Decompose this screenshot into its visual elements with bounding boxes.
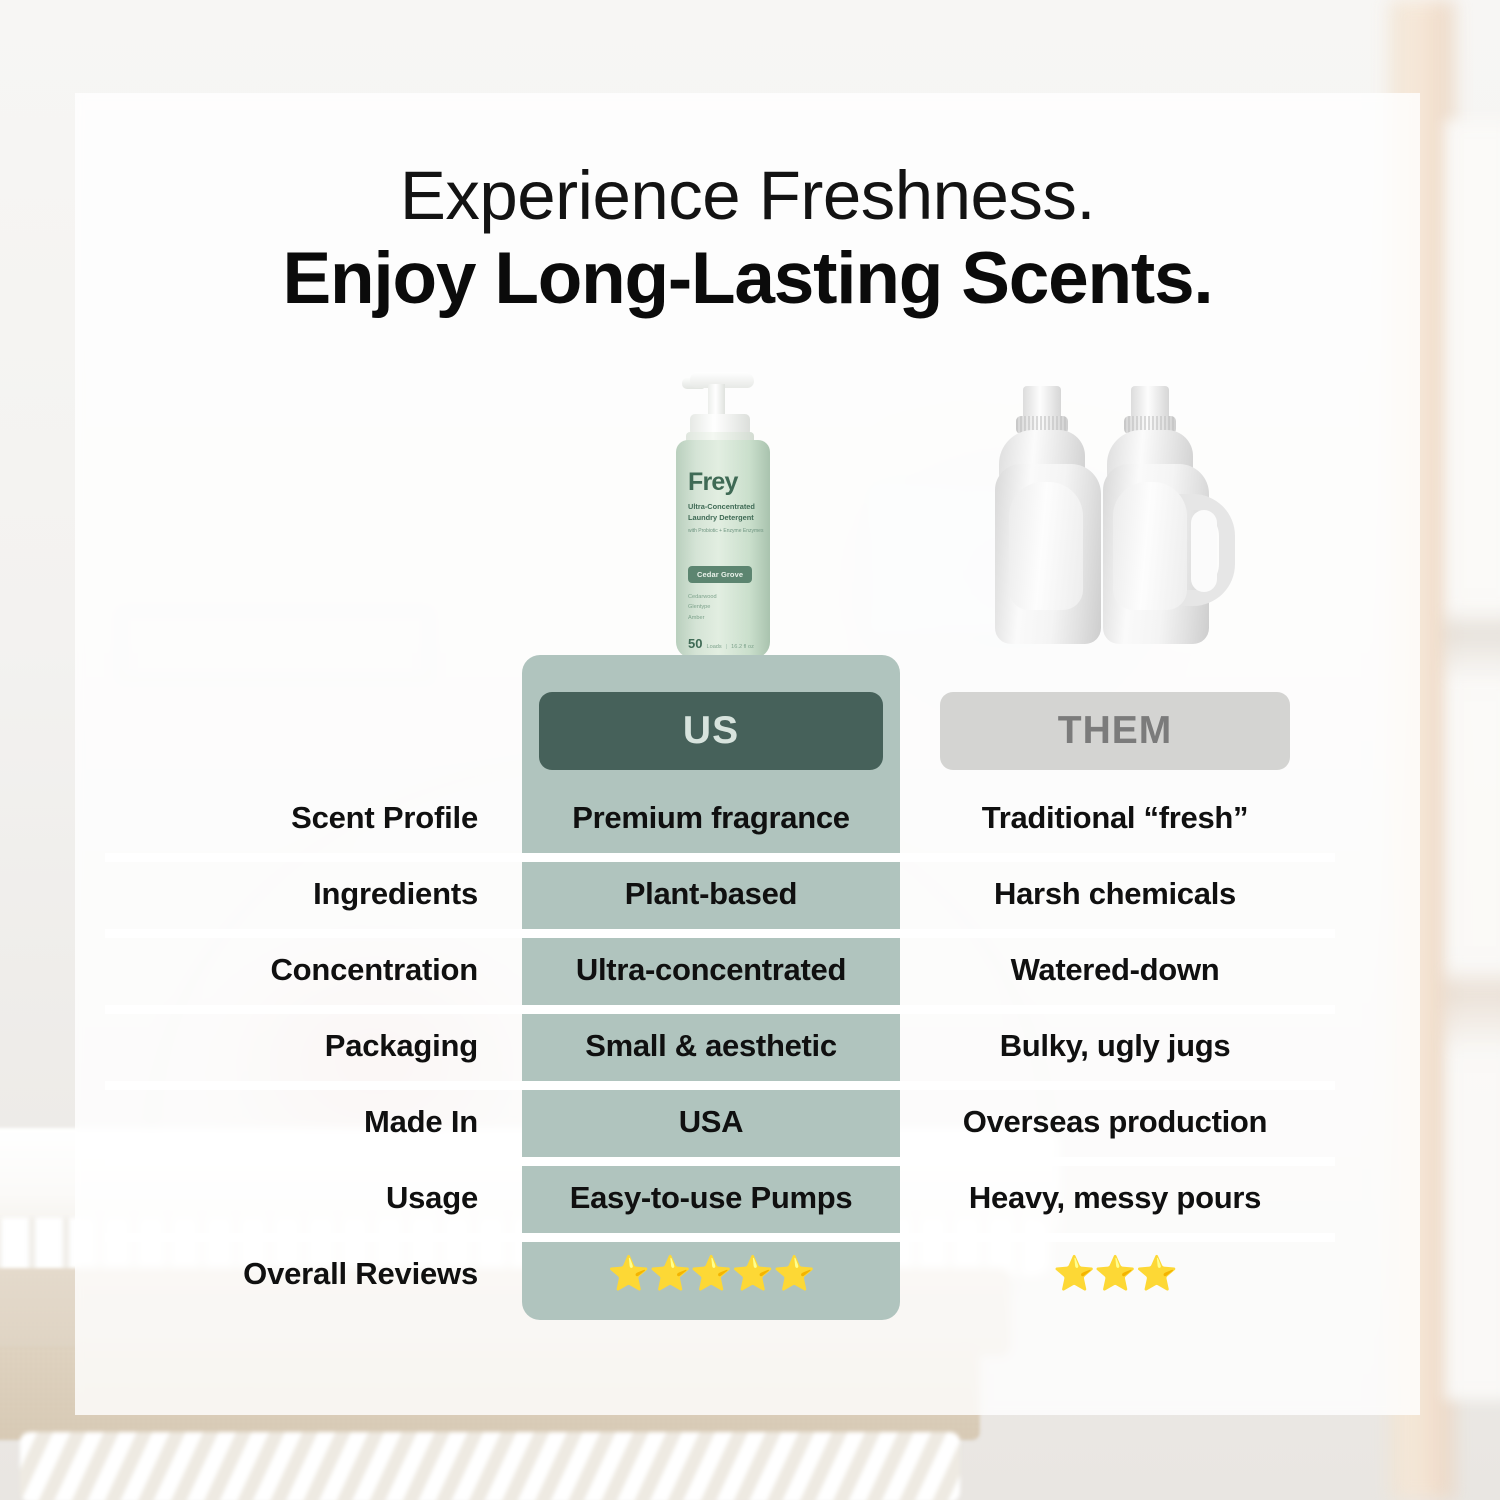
row-them-packaging: Bulky, ugly jugs bbox=[915, 1008, 1315, 1084]
row-label-ingredients: Ingredients bbox=[120, 856, 478, 932]
table-row: Ingredients Plant-based Harsh chemicals bbox=[0, 856, 1500, 932]
row-them-star-rating: ⭐⭐⭐ bbox=[915, 1236, 1315, 1312]
table-row: Made In USA Overseas production bbox=[0, 1084, 1500, 1160]
row-them-ingredients: Harsh chemicals bbox=[915, 856, 1315, 932]
row-label-usage: Usage bbox=[120, 1160, 478, 1236]
comparison-table: US THEM Scent Profile Premium fragrance … bbox=[0, 0, 1500, 1500]
row-us-packaging: Small & aesthetic bbox=[522, 1008, 900, 1084]
table-row: Overall Reviews ⭐⭐⭐⭐⭐ ⭐⭐⭐ bbox=[0, 1236, 1500, 1312]
us-column-header: US bbox=[539, 692, 883, 770]
row-label-scent-profile: Scent Profile bbox=[120, 780, 478, 856]
row-us-star-rating: ⭐⭐⭐⭐⭐ bbox=[522, 1236, 900, 1312]
row-them-made-in: Overseas production bbox=[915, 1084, 1315, 1160]
row-label-overall-reviews: Overall Reviews bbox=[120, 1236, 478, 1312]
them-column-header: THEM bbox=[940, 692, 1290, 770]
table-row: Concentration Ultra-concentrated Watered… bbox=[0, 932, 1500, 1008]
table-row: Usage Easy-to-use Pumps Heavy, messy pou… bbox=[0, 1160, 1500, 1236]
table-row: Scent Profile Premium fragrance Traditio… bbox=[0, 780, 1500, 856]
row-them-scent-profile: Traditional “fresh” bbox=[915, 780, 1315, 856]
row-us-scent-profile: Premium fragrance bbox=[522, 780, 900, 856]
table-row: Packaging Small & aesthetic Bulky, ugly … bbox=[0, 1008, 1500, 1084]
row-label-concentration: Concentration bbox=[120, 932, 478, 1008]
row-us-usage: Easy-to-use Pumps bbox=[522, 1160, 900, 1236]
row-us-ingredients: Plant-based bbox=[522, 856, 900, 932]
row-them-usage: Heavy, messy pours bbox=[915, 1160, 1315, 1236]
row-label-made-in: Made In bbox=[120, 1084, 478, 1160]
row-label-packaging: Packaging bbox=[120, 1008, 478, 1084]
row-us-made-in: USA bbox=[522, 1084, 900, 1160]
row-us-concentration: Ultra-concentrated bbox=[522, 932, 900, 1008]
row-them-concentration: Watered-down bbox=[915, 932, 1315, 1008]
